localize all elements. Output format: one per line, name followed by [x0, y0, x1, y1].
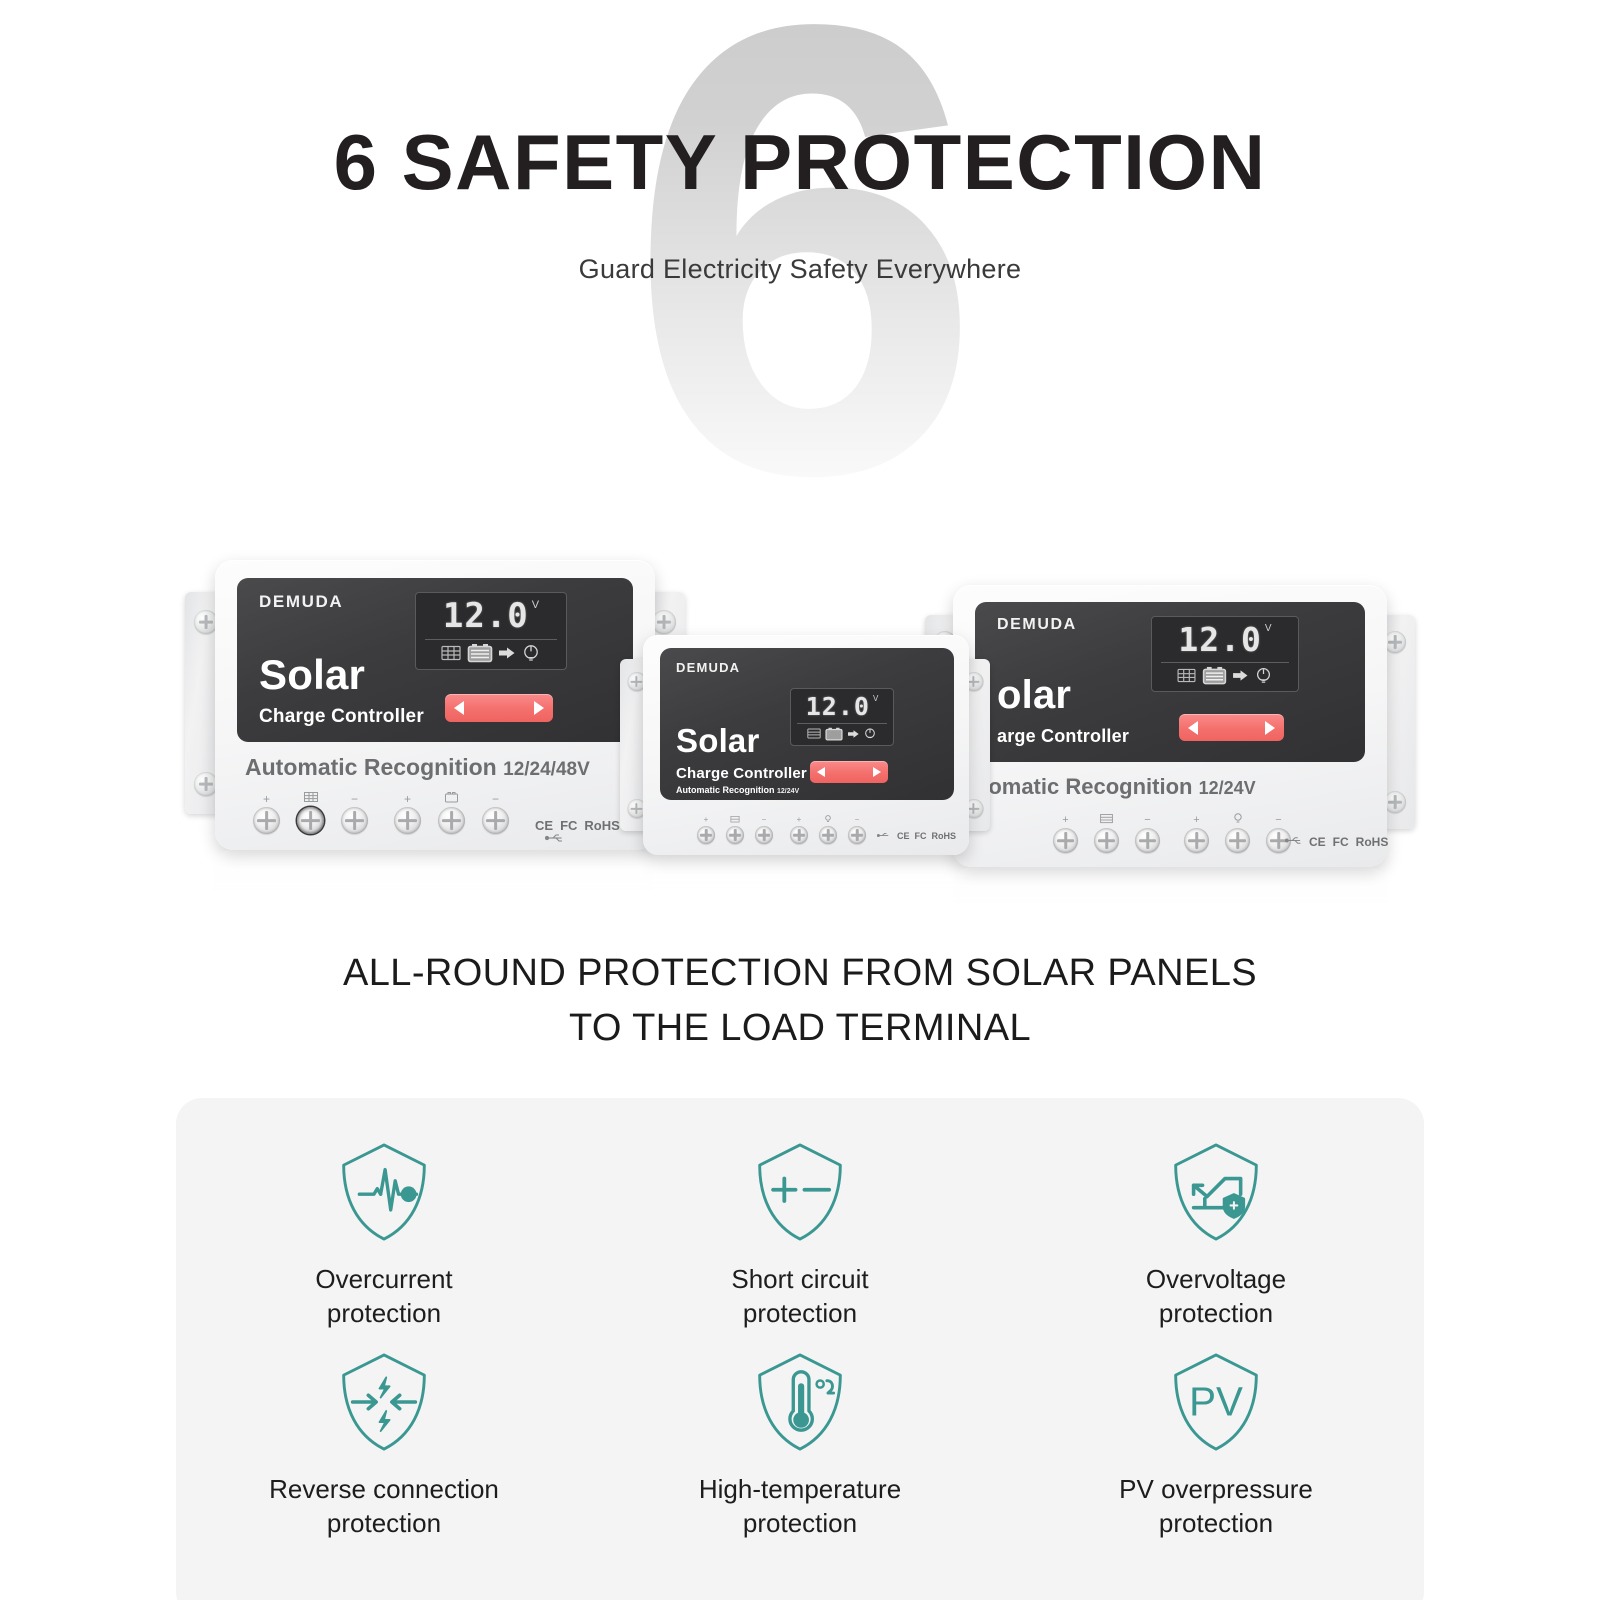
- terminal-screw-icon[interactable]: [726, 826, 744, 844]
- terminal[interactable]: −: [1135, 815, 1160, 853]
- lcd-voltage-unit: V: [1265, 623, 1272, 634]
- terminal[interactable]: [297, 792, 324, 834]
- feature-label: Overvoltage protection: [1146, 1262, 1286, 1331]
- controller-faceplate: DEMUDA Solar Charge Controller Automatic…: [660, 648, 954, 800]
- ce-mark: CE: [535, 818, 553, 833]
- lamp-icon: [521, 643, 541, 663]
- shield-pulse-icon: [328, 1136, 440, 1248]
- feature-label: PV overpressure protection: [1119, 1472, 1313, 1541]
- terminal[interactable]: −: [482, 793, 509, 834]
- arrow-left-icon[interactable]: [1188, 721, 1198, 735]
- auto-recognition-label: Automatic Recognition 12/24/48V: [245, 754, 590, 781]
- voltage-range-text: 12/24/48V: [503, 759, 590, 780]
- usb-icon: [877, 831, 892, 840]
- page-header: 6 SAFETY PROTECTION Guard Electricity Sa…: [0, 0, 1600, 285]
- product-image-stage: DEMUDA Solar Charge Controller 12.0 V: [0, 540, 1600, 940]
- terminal-screw-icon[interactable]: [1225, 828, 1250, 853]
- arrow-left-icon[interactable]: [454, 701, 464, 715]
- terminal[interactable]: [726, 816, 744, 844]
- auto-recognition-label: Automatic Recognition 12/24V: [676, 785, 799, 795]
- lamp-icon: [863, 727, 877, 741]
- terminal-block: + − +: [253, 792, 509, 834]
- brand-logo: DEMUDA: [997, 616, 1077, 634]
- solar-panel-icon: [1177, 668, 1196, 683]
- terminal-block: + − +: [1053, 813, 1291, 853]
- lcd-voltage-value: 12.0: [1178, 620, 1261, 659]
- feature-label: High-temperature protection: [699, 1472, 901, 1541]
- control-button-bar[interactable]: [1179, 714, 1284, 741]
- battery-icon: [825, 727, 843, 741]
- terminal[interactable]: +: [697, 816, 715, 844]
- voltage-range-text: 12/24V: [1199, 778, 1256, 798]
- usb-icon: [545, 832, 567, 844]
- lcd-display: 12.0 V: [790, 688, 894, 746]
- terminal-polarity-minus: −: [762, 816, 767, 824]
- feature-label: Short circuit protection: [731, 1262, 868, 1331]
- lcd-status-row: [416, 637, 566, 669]
- terminal-screw-icon[interactable]: [482, 807, 509, 834]
- control-button-bar[interactable]: [445, 694, 553, 722]
- terminal-polarity-plus: +: [1062, 815, 1068, 826]
- section-heading: ALL-ROUND PROTECTION FROM SOLAR PANELS T…: [0, 946, 1600, 1056]
- product-subtitle: arge Controller: [997, 726, 1129, 747]
- terminal[interactable]: +: [253, 793, 280, 834]
- battery-icon: [445, 792, 458, 803]
- product-subtitle: Charge Controller: [676, 765, 807, 782]
- terminal[interactable]: −: [848, 816, 866, 844]
- bracket-screw-icon: [1384, 791, 1406, 813]
- solar-panel-icon: [1100, 814, 1113, 824]
- controller-body: DEMUDA Solar Charge Controller Automatic…: [643, 635, 969, 855]
- auto-recognition-text: Automatic Recognition: [245, 754, 497, 780]
- terminal-polarity-plus: +: [263, 793, 270, 805]
- feature-reverse-connection: Reverse connection protection: [176, 1346, 592, 1556]
- terminal[interactable]: +: [790, 816, 808, 844]
- lcd-reading-row: 12.0 V: [416, 593, 566, 639]
- rohs-mark: RoHS: [932, 831, 957, 841]
- product-name: Solar: [676, 722, 760, 760]
- lcd-display: 12.0 V: [1151, 616, 1299, 692]
- product-left-controller: DEMUDA Solar Charge Controller 12.0 V: [185, 560, 685, 870]
- feature-pv-overpressure: PV PV overpressure protection: [1008, 1346, 1424, 1556]
- feature-short-circuit: Short circuit protection: [592, 1136, 1008, 1346]
- terminal-screw-icon[interactable]: [755, 826, 773, 844]
- terminal-screw-icon[interactable]: [253, 807, 280, 834]
- lcd-voltage-unit: V: [532, 599, 539, 611]
- feature-high-temperature: High-temperature protection: [592, 1346, 1008, 1556]
- product-infographic-page: 6 6 SAFETY PROTECTION Guard Electricity …: [0, 0, 1600, 1600]
- terminal[interactable]: −: [1266, 815, 1291, 853]
- solar-panel-icon: [304, 792, 318, 803]
- battery-icon: [467, 643, 493, 663]
- product-center-controller: DEMUDA Solar Charge Controller Automatic…: [620, 635, 990, 875]
- voltage-range-text: 12/24V: [777, 788, 799, 795]
- terminal[interactable]: −: [755, 816, 773, 844]
- controller-body: DEMUDA Solar Charge Controller 12.0 V: [215, 560, 655, 850]
- features-grid: Overcurrent protection Short circuit pro…: [176, 1136, 1424, 1556]
- terminal-polarity-plus: +: [797, 816, 802, 824]
- auto-recognition-label: tomatic Recognition 12/24V: [981, 774, 1256, 800]
- bracket-screw-icon: [652, 610, 676, 634]
- terminal[interactable]: [438, 792, 465, 834]
- fcc-mark: FC: [1333, 835, 1349, 849]
- terminal-polarity-plus: +: [704, 816, 709, 824]
- terminal-screw-icon[interactable]: [790, 826, 808, 844]
- shield-arrows-bolt-icon: [328, 1346, 440, 1458]
- usb-icon: [1285, 835, 1305, 846]
- terminal-screw-icon[interactable]: [297, 807, 324, 834]
- terminal-polarity-plus: +: [404, 793, 411, 805]
- terminal-screw-icon[interactable]: [341, 807, 368, 834]
- arrow-right-icon[interactable]: [873, 767, 881, 777]
- product-name: olar: [997, 673, 1071, 718]
- lcd-status-row: [1152, 660, 1298, 691]
- terminal[interactable]: +: [1053, 815, 1078, 853]
- feature-label: Overcurrent protection: [315, 1262, 452, 1331]
- svg-text:PV: PV: [1189, 1378, 1243, 1424]
- shield-thermometer-icon: [744, 1346, 856, 1458]
- feature-label: Reverse connection protection: [269, 1472, 499, 1541]
- terminal-screw-icon[interactable]: [848, 826, 866, 844]
- fcc-mark: FC: [915, 831, 927, 841]
- terminal-polarity-minus: −: [492, 793, 499, 805]
- page-subtitle: Guard Electricity Safety Everywhere: [0, 254, 1600, 285]
- lcd-voltage-unit: V: [873, 694, 878, 703]
- solar-panel-icon: [730, 816, 740, 823]
- arrow-right-icon: [848, 729, 859, 739]
- terminal[interactable]: +: [1184, 815, 1209, 853]
- certification-marks: CE FC RoHS: [535, 818, 620, 833]
- auto-recognition-text: Automatic Recognition: [676, 785, 775, 795]
- page-title: 6 SAFETY PROTECTION: [0, 122, 1600, 204]
- section-heading-line2: TO THE LOAD TERMINAL: [0, 1001, 1600, 1056]
- terminal-block: + − +: [697, 815, 866, 844]
- product-right-controller: DEMUDA olar arge Controller 12.0 V: [925, 585, 1415, 885]
- terminal-polarity-minus: −: [1275, 815, 1281, 826]
- feature-overvoltage: Overvoltage protection: [1008, 1136, 1424, 1346]
- terminal[interactable]: [819, 815, 837, 844]
- terminal-polarity-minus: −: [351, 793, 358, 805]
- rohs-mark: RoHS: [584, 818, 619, 833]
- terminal-screw-icon[interactable]: [394, 807, 421, 834]
- lcd-status-row: [791, 722, 893, 745]
- terminal-screw-icon[interactable]: [1184, 828, 1209, 853]
- section-heading-line1: ALL-ROUND PROTECTION FROM SOLAR PANELS: [0, 946, 1600, 1001]
- terminal-polarity-plus: +: [1193, 815, 1199, 826]
- certification-marks: CE FC RoHS: [897, 831, 956, 841]
- arrow-left-icon[interactable]: [817, 767, 825, 777]
- solar-panel-icon: [441, 645, 461, 661]
- solar-panel-icon: [807, 728, 821, 739]
- feature-overcurrent: Overcurrent protection: [176, 1136, 592, 1346]
- arrow-right-icon[interactable]: [534, 701, 544, 715]
- terminal-screw-icon[interactable]: [1053, 828, 1078, 853]
- terminal-polarity-minus: −: [1144, 815, 1150, 826]
- shield-circuit-icon: [1160, 1136, 1272, 1248]
- lamp-icon: [1233, 813, 1243, 824]
- terminal-screw-icon[interactable]: [438, 807, 465, 834]
- shield-plus-minus-icon: [744, 1136, 856, 1248]
- product-subtitle: Charge Controller: [259, 706, 424, 728]
- bracket-screw-icon: [1384, 631, 1406, 653]
- ce-mark: CE: [1309, 835, 1326, 849]
- terminal-screw-icon[interactable]: [819, 826, 837, 844]
- arrow-right-icon: [1233, 669, 1248, 682]
- lcd-reading-row: 12.0 V: [1152, 617, 1298, 662]
- battery-icon: [1202, 666, 1227, 685]
- lcd-voltage-value: 12.0: [443, 596, 529, 636]
- features-panel: Overcurrent protection Short circuit pro…: [176, 1098, 1424, 1600]
- terminal[interactable]: [1094, 814, 1119, 853]
- lcd-display: 12.0 V: [415, 592, 567, 670]
- lamp-icon: [1254, 666, 1273, 685]
- terminal[interactable]: [1225, 813, 1250, 853]
- arrow-right-icon[interactable]: [1265, 721, 1275, 735]
- lamp-icon: [824, 815, 832, 823]
- shield-pv-icon: PV: [1160, 1346, 1272, 1458]
- auto-recognition-text: tomatic Recognition: [981, 774, 1192, 799]
- terminal-screw-icon[interactable]: [697, 826, 715, 844]
- controller-faceplate: DEMUDA Solar Charge Controller 12.0 V: [237, 578, 633, 742]
- terminal[interactable]: −: [341, 793, 368, 834]
- lcd-voltage-value: 12.0: [806, 692, 870, 721]
- fcc-mark: FC: [560, 818, 577, 833]
- terminal-screw-icon[interactable]: [1135, 828, 1160, 853]
- brand-logo: DEMUDA: [676, 660, 740, 675]
- terminal-screw-icon[interactable]: [1094, 828, 1119, 853]
- terminal-polarity-minus: −: [855, 816, 860, 824]
- lcd-reading-row: 12.0 V: [791, 689, 893, 723]
- certification-marks: CE FC RoHS: [1309, 835, 1388, 849]
- rohs-mark: RoHS: [1356, 835, 1389, 849]
- controller-faceplate: DEMUDA olar arge Controller 12.0 V: [975, 602, 1365, 762]
- brand-logo: DEMUDA: [259, 592, 343, 612]
- arrow-right-icon: [499, 646, 515, 660]
- controller-body: DEMUDA olar arge Controller 12.0 V: [953, 585, 1387, 867]
- ce-mark: CE: [897, 831, 910, 841]
- terminal[interactable]: +: [394, 793, 421, 834]
- product-name: Solar: [259, 651, 365, 699]
- control-button-bar[interactable]: [810, 761, 888, 783]
